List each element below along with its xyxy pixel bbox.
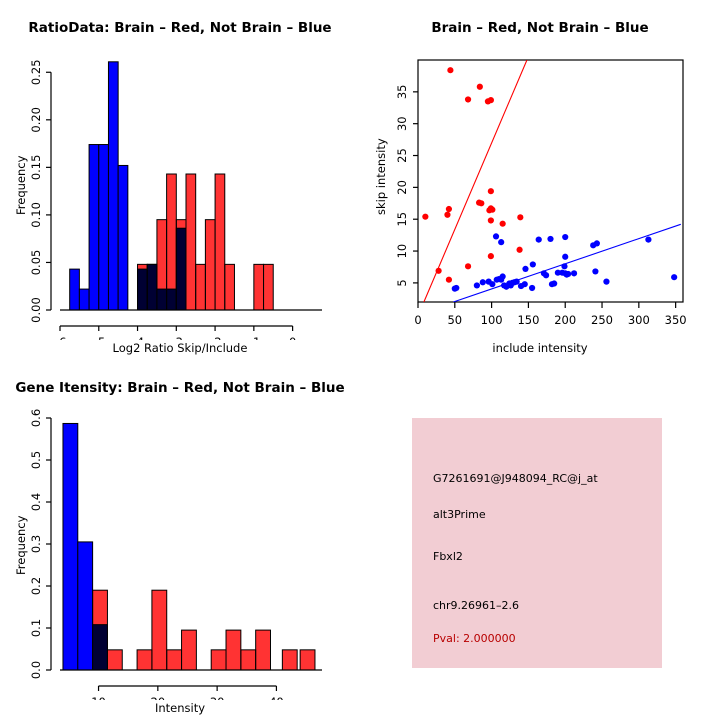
scatter-point [562,234,568,240]
y-tick-label: 0.05 [29,250,43,276]
scatter-points [422,67,677,292]
y-tick-label: 0.3 [29,535,43,553]
y-tick-label: 0.00 [29,297,43,323]
y-tick-label: 5 [395,279,409,286]
scatter-point [530,261,536,267]
y-tick-label: 30 [395,116,409,131]
histogram-bar [241,650,256,670]
x-tick-label: –3 [170,335,183,340]
y-tick-label: 10 [395,244,409,259]
histogram-bar [211,650,226,670]
ratio-histogram-plot: 0.000.050.100.150.200.25–6–5–4–3–2–10 [0,10,360,340]
y-tick-label: 0.15 [29,155,43,181]
x-tick-label: –5 [92,335,105,340]
histogram-bar [225,264,235,310]
histogram-bar [186,174,196,310]
histogram-bar [118,165,128,310]
y-tick-label: 35 [395,85,409,100]
gene-histogram-plot: 0.00.10.20.30.40.50.610203040 [0,370,360,700]
scatter-point [444,212,450,218]
histogram-bar [176,220,186,310]
gene-histogram-yaxis: 0.00.10.20.30.40.50.6 [29,409,51,679]
y-tick-label: 0.2 [29,577,43,595]
scatter-point [529,285,535,291]
scatter-point [474,282,480,288]
x-tick-label: 200 [554,313,576,327]
scatter-point [500,221,506,227]
info-probe-id: G7261691@J948094_RC@j_at [433,472,598,485]
scatter-fit-lines [424,60,681,302]
info-locus: chr9.26961–2.6 [433,599,519,612]
scatter-frame [418,60,683,302]
scatter-point [594,240,600,246]
y-tick-label: 0.0 [29,661,43,679]
y-tick-label: 0.1 [29,619,43,637]
histogram-bar [147,264,157,310]
info-gene-symbol: Fbxl2 [433,550,463,563]
scatter-point [645,236,651,242]
scatter-point [561,263,567,269]
histogram-bar [63,423,78,670]
x-tick-label: 50 [447,313,462,327]
y-tick-label: 0.6 [29,409,43,427]
ratio-histogram-xlabel: Log2 Ratio Skip/Include [0,341,360,355]
histogram-bar [157,220,167,310]
histogram-bar [152,590,167,670]
gene-histogram-xlabel: Intensity [0,701,360,715]
x-tick-label: 40 [269,695,284,700]
plot-canvas: RatioData: Brain – Red, Not Brain – Blue… [0,0,720,720]
scatter-point [488,97,494,103]
histogram-bar [99,145,109,310]
scatter-xlabel: include intensity [360,341,720,355]
scatter-point [501,282,507,288]
scatter-point [489,207,495,213]
scatter-point [453,285,459,291]
histogram-bar [254,264,264,310]
info-pval: Pval: 2.000000 [433,632,516,645]
panel-ratio-histogram: RatioData: Brain – Red, Not Brain – Blue… [0,0,360,360]
scatter-point [488,253,494,259]
x-tick-label: –1 [247,335,260,340]
gene-histogram-bars [63,423,315,670]
x-tick-label: 0 [414,313,421,327]
x-tick-label: 350 [665,313,687,327]
histogram-bar [107,650,122,670]
y-tick-label: 0.5 [29,451,43,469]
histogram-bar [167,174,177,310]
histogram-bar [138,264,148,310]
scatter-point [436,268,442,274]
y-tick-label: 0.20 [29,107,43,133]
histogram-bar [182,630,197,670]
y-tick-label: 0.10 [29,202,43,228]
histogram-bar [282,650,297,670]
y-tick-label: 25 [395,148,409,163]
x-tick-label: –6 [53,335,66,340]
scatter-point [486,279,492,285]
fit-line [424,60,527,302]
scatter-point [465,96,471,102]
x-tick-label: 100 [481,313,503,327]
scatter-xaxis: 050100150200250300350 [414,302,686,327]
x-tick-label: –2 [209,335,222,340]
histogram-bar [137,650,152,670]
scatter-point [446,277,452,283]
histogram-bar [256,630,271,670]
scatter-yaxis: 5101520253035 [395,85,418,287]
scatter-point [562,254,568,260]
histogram-bar [79,289,89,310]
scatter-point [493,233,499,239]
scatter-point [522,266,528,272]
scatter-point [488,188,494,194]
histogram-bar [300,650,315,670]
histogram-bar [226,630,241,670]
scatter-point [559,270,565,276]
scatter-point [517,214,523,220]
histogram-bar [89,145,99,310]
scatter-point [494,277,500,283]
scatter-point [522,281,528,287]
scatter-point [465,263,471,269]
ratio-histogram-bars [70,62,274,310]
panel-intensity-scatter: Brain – Red, Not Brain – Blue skip inten… [360,0,720,360]
scatter-point [551,280,557,286]
x-tick-label: 20 [151,695,166,700]
scatter-point [478,200,484,206]
scatter-point [516,247,522,253]
scatter-point [571,270,577,276]
histogram-bar [205,220,215,310]
scatter-plot: 5101520253035050100150200250300350 [360,10,720,340]
ratio-histogram-yaxis: 0.000.050.100.150.200.25 [29,59,51,322]
x-tick-label: 300 [628,313,650,327]
panel-info: G7261691@J948094_RC@j_at alt3Prime Fbxl2… [360,360,720,720]
scatter-point [536,236,542,242]
x-tick-label: 250 [591,313,613,327]
histogram-bar [93,590,108,670]
scatter-point [592,268,598,274]
histogram-bar [264,264,274,310]
gene-histogram-xaxis: 10203040 [60,670,322,700]
y-tick-label: 0.4 [29,493,43,511]
scatter-point [603,279,609,285]
scatter-point [671,274,677,280]
x-tick-label: 10 [91,695,106,700]
scatter-point [422,214,428,220]
panel-gene-histogram: Gene Itensity: Brain – Red, Not Brain – … [0,360,360,720]
scatter-point [500,273,506,279]
y-tick-label: 15 [395,212,409,227]
histogram-bar [196,264,206,310]
x-tick-label: 150 [517,313,539,327]
histogram-bar [78,542,93,670]
scatter-point [446,206,452,212]
info-event-type: alt3Prime [433,508,486,521]
x-tick-label: –4 [131,335,144,340]
scatter-point [477,84,483,90]
histogram-bar [167,650,182,670]
y-tick-label: 20 [395,180,409,195]
x-tick-label: 30 [210,695,225,700]
x-tick-label: 0 [289,335,296,340]
scatter-point [547,236,553,242]
histogram-bar [70,269,80,310]
scatter-point [498,239,504,245]
scatter-point [480,279,486,285]
scatter-point [447,67,453,73]
scatter-point [541,270,547,276]
histogram-bar [108,62,118,310]
info-box [412,418,662,668]
histogram-bar [215,174,225,310]
ratio-histogram-xaxis: –6–5–4–3–2–10 [53,310,322,340]
scatter-point [488,217,494,223]
y-tick-label: 0.25 [29,59,43,85]
